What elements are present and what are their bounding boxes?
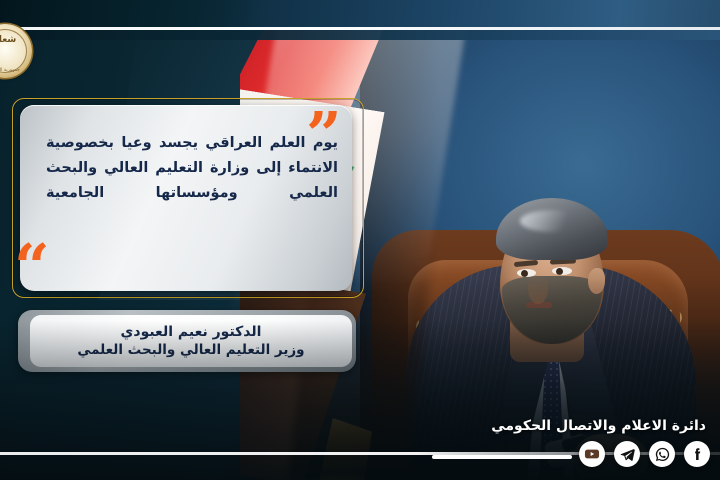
- telegram-icon[interactable]: [614, 441, 640, 467]
- header-band-secondary: [0, 30, 720, 40]
- youtube-icon[interactable]: [579, 441, 605, 467]
- social-links[interactable]: [579, 441, 710, 467]
- seal-script: شعار: [0, 35, 32, 45]
- quote-card: يوم العلم العراقي يجسد وعيا بخصوصية الان…: [20, 105, 352, 291]
- footer-rule-accent: [432, 455, 572, 459]
- facebook-icon[interactable]: [684, 441, 710, 467]
- quote-mark-close-icon: ”: [306, 104, 342, 166]
- organization-name: دائرة الاعلام والاتصال الحكومي: [491, 418, 706, 434]
- whatsapp-icon[interactable]: [649, 441, 675, 467]
- header-band-shade: [0, 0, 260, 27]
- quote-text: يوم العلم العراقي يجسد وعيا بخصوصية الان…: [46, 131, 338, 206]
- quote-card-banner: شعار جمهورية العراق يوم العلم العراقي يج…: [0, 0, 720, 480]
- seal-arc-text: جمهورية العراق: [0, 68, 32, 73]
- quote-mark-open-icon: “: [14, 236, 50, 298]
